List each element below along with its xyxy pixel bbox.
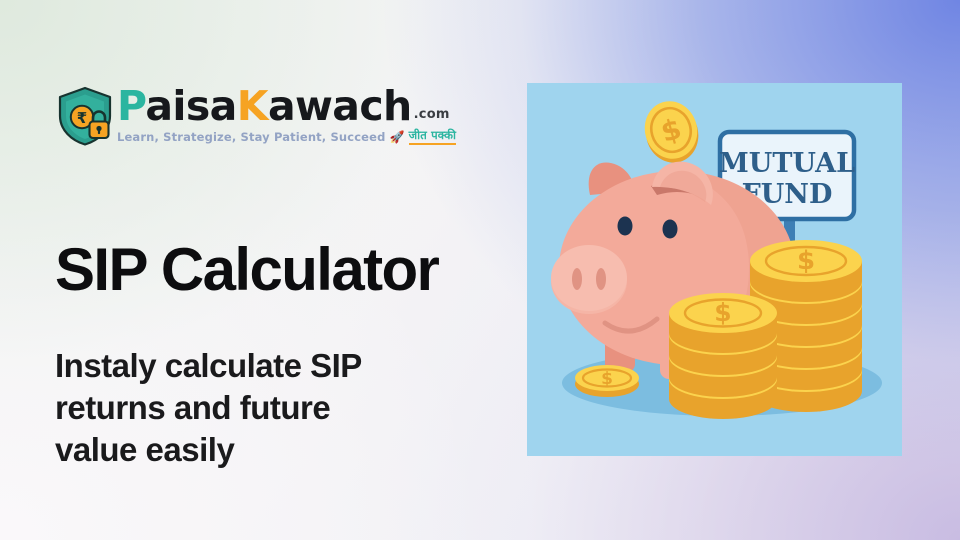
wordmark-aisa: aisa: [145, 82, 236, 130]
sign-text-line-1: MUTUAL: [719, 148, 855, 179]
shield-rupee-lock-icon: ₹: [55, 85, 115, 147]
svg-text:$: $: [714, 298, 731, 327]
rocket-icon: 🚀: [389, 130, 404, 144]
paisakawach-logo[interactable]: ₹ PaisaKawach.com Learn, Strategize, Sta…: [55, 84, 456, 147]
piggy-bank-mutual-fund-illustration: MUTUAL FUND $: [527, 83, 902, 456]
tagline-hindi: जीत पक्की: [409, 128, 457, 145]
subtitle-line-3: value easily: [55, 429, 485, 471]
wordmark-tld: .com: [414, 107, 450, 122]
tagline-english: Learn, Strategize, Stay Patient, Succeed: [117, 130, 385, 144]
sip-calculator-banner: ₹ PaisaKawach.com Learn, Strategize, Sta…: [0, 0, 960, 540]
subtitle-line-2: returns and future: [55, 387, 485, 429]
page-title: SIP Calculator: [55, 238, 438, 301]
ground-coin: $: [575, 365, 639, 397]
svg-text:$: $: [601, 369, 613, 389]
wordmark-p: P: [117, 82, 145, 130]
logo-tagline: Learn, Strategize, Stay Patient, Succeed…: [117, 128, 456, 145]
wordmark-awach: awach: [268, 82, 412, 130]
logo-wordmark: PaisaKawach.com: [117, 82, 450, 130]
logo-text-block: PaisaKawach.com Learn, Strategize, Stay …: [117, 84, 456, 145]
coin-stack-front: $: [669, 293, 777, 419]
subtitle-line-1: Instaly calculate SIP: [55, 345, 485, 387]
page-subtitle: Instaly calculate SIP returns and future…: [55, 345, 485, 472]
svg-text:$: $: [797, 246, 815, 276]
wordmark-k: K: [237, 82, 268, 130]
svg-text:₹: ₹: [77, 109, 87, 127]
left-content-column: ₹ PaisaKawach.com Learn, Strategize, Sta…: [0, 0, 520, 540]
